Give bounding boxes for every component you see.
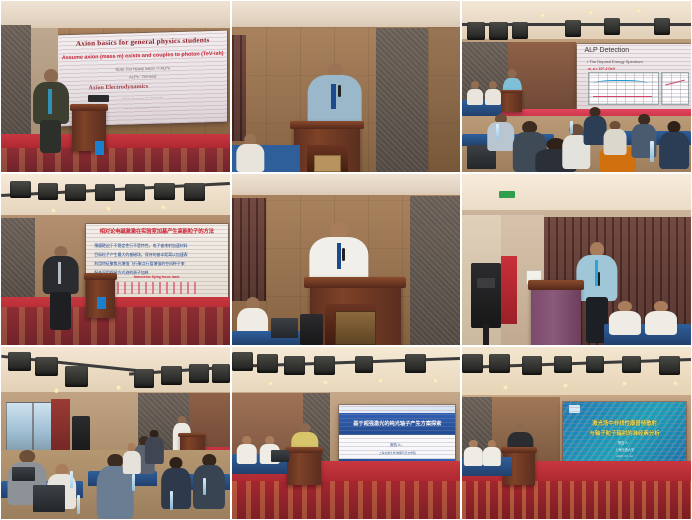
collage-panel-5[interactable]	[231, 173, 461, 346]
collage-panel-6[interactable]	[461, 173, 692, 346]
collage-panel-4[interactable]: 相对论电磁激激在实验室加基产生高能粒子的方法 薄膜靶迫于不稳定性行不是特性，电子…	[0, 173, 231, 346]
photo-middle-center	[232, 174, 460, 345]
projection-screen-8: 基于超强激光的纯光轴子产生方案探索 报告人： 上海交通大学 物理与天文学院	[339, 405, 455, 467]
slide-line-3: ALPs - General	[58, 72, 227, 82]
podium-6	[531, 280, 581, 345]
collage-panel-3[interactable]: ALP Detection • The Deposit Energy Spect…	[461, 0, 692, 173]
slide-line-1: Assume axion (mass m) exists and couples…	[58, 51, 227, 62]
collage-panel-9[interactable]: 激光场中非线性康普特散射 与轴子粒子辐射的准经典分析 报告人： 上海交通大学 2…	[461, 346, 692, 520]
photo-top-left: Axion basics for general physics student…	[1, 1, 230, 172]
photo-bottom-right: 激光场中非线性康普特散射 与轴子粒子辐射的准经典分析 报告人： 上海交通大学 2…	[462, 347, 691, 519]
pa-speaker-6	[471, 263, 501, 328]
slide-title-1: Axion basics for general physics student…	[58, 37, 227, 50]
slide-title-8: 基于超强激光的纯光轴子产生方案探索	[339, 420, 455, 427]
photo-top-center	[232, 1, 460, 172]
photo-middle-left: 相对论电磁激激在实验室加基产生高能粒子的方法 薄膜靶迫于不稳定性行不是特性，电子…	[1, 174, 230, 345]
speaker-figure-4	[42, 246, 79, 328]
slide-subtitle-3: • The Deposit Energy Spectrum	[577, 59, 692, 64]
collage-panel-7[interactable]	[0, 346, 231, 520]
deposit-energy-chart-inset	[661, 72, 688, 106]
collage-panel-1[interactable]: Axion basics for general physics student…	[0, 0, 231, 173]
photo-top-right: ALP Detection • The Deposit Energy Spect…	[462, 1, 691, 172]
slide-title-3: ALP Detection	[577, 47, 692, 54]
slide-formula-3: m_a = 10^-3 GeV	[577, 67, 692, 71]
deposit-energy-chart	[588, 72, 659, 106]
slide-title-9-line2: 与轴子粒子辐射的准经典分析	[563, 429, 687, 437]
seated-person-2	[237, 134, 264, 172]
projection-screen-3: ALP Detection • The Deposit Energy Spect…	[577, 44, 692, 114]
speaker-figure-1	[33, 69, 70, 151]
bullet-1: 薄膜靶迫于不稳定性行不是特性，电子被束射加速材料	[94, 241, 222, 250]
photo-collage: Axion basics for general physics student…	[0, 0, 692, 520]
bullet-3: 利用特征聚焦光增强‘飞行聚点行管增强的空间种子束’	[94, 259, 222, 268]
slide-presenter-9: 报告人：	[563, 440, 687, 445]
slide-bullets-4: 薄膜靶迫于不稳定性行不是特性，电子被束射加速材料 目标粒子产生最大的基磁场，保持…	[94, 241, 222, 277]
slide-title-9-line1: 激光场中非线性康普特散射	[563, 419, 687, 427]
slide-title-4: 相对论电磁激激在实验室加基产生高能粒子的方法	[86, 227, 228, 235]
podium-4	[86, 273, 116, 317]
slide-formula-1: — — — — — — — — —	[58, 95, 227, 104]
photo-middle-right	[462, 174, 691, 345]
podium-8	[287, 447, 321, 485]
slide-subtitle-8: 报告人：	[339, 443, 455, 448]
collage-panel-8[interactable]: 基于超强激光的纯光轴子产生方案探索 报告人： 上海交通大学 物理与天文学院	[231, 346, 461, 520]
window-7	[6, 402, 33, 454]
photo-bottom-left	[1, 347, 230, 519]
slide-line-4: Axion Electrodynamics	[58, 82, 227, 93]
slide-footnote-8: 上海交通大学 物理与天文学院	[339, 451, 455, 455]
slide-date-9: 2025. 07. 12	[563, 454, 687, 458]
bullet-2: 目标粒子产生最大的基磁场，保持的基本距离以加速表	[94, 250, 222, 259]
slide-affiliation-9: 上海交通大学	[563, 447, 687, 452]
photo-bottom-center: 基于超强激光的纯光轴子产生方案探索 报告人： 上海交通大学 物理与天文学院	[232, 347, 460, 519]
collage-panel-2[interactable]	[231, 0, 461, 173]
projection-screen-9: 激光场中非线性康普特散射 与轴子粒子辐射的准经典分析 报告人： 上海交通大学 2…	[563, 402, 687, 464]
